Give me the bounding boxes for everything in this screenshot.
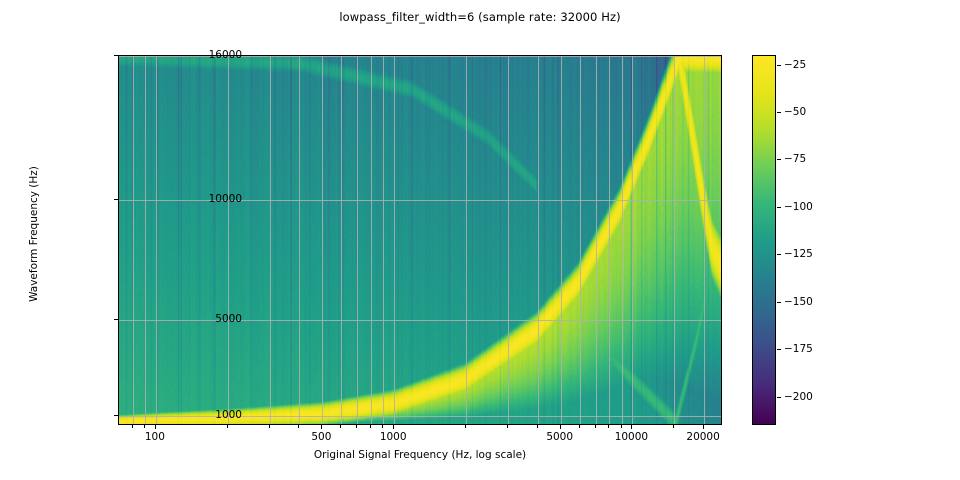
x-tick-minor — [537, 425, 538, 428]
x-tick-minor — [298, 425, 299, 428]
x-tick-minor — [269, 425, 270, 428]
figure-canvas: lowpass_filter_width=6 (sample rate: 320… — [0, 0, 960, 480]
x-tick-major — [155, 425, 156, 429]
spectrogram-image — [119, 56, 721, 424]
x-tick-minor — [382, 425, 383, 428]
x-tick-minor — [673, 425, 674, 428]
x-tick-label: 20000 — [686, 431, 719, 443]
y-tick-major — [114, 319, 118, 320]
x-tick-label: 1000 — [380, 431, 407, 443]
colorbar-tick-label: −150 — [784, 296, 813, 308]
x-tick-minor — [465, 425, 466, 428]
x-tick-major — [321, 425, 322, 429]
y-axis-label: Waveform Frequency (Hz) — [28, 104, 40, 364]
colorbar — [752, 55, 776, 425]
x-tick-label: 500 — [311, 431, 331, 443]
x-tick-major — [560, 425, 561, 429]
y-tick-label: 5000 — [215, 313, 242, 325]
x-tick-minor — [370, 425, 371, 428]
colorbar-tick — [777, 65, 781, 66]
x-axis-label: Original Signal Frequency (Hz, log scale… — [118, 449, 722, 461]
x-tick-label: 100 — [145, 431, 165, 443]
figure-title: lowpass_filter_width=6 (sample rate: 320… — [0, 10, 960, 24]
x-tick-label: 10000 — [615, 431, 648, 443]
x-tick-minor — [132, 425, 133, 428]
colorbar-tick — [777, 112, 781, 113]
y-tick-label: 1000 — [215, 409, 242, 421]
x-tick-minor — [227, 425, 228, 428]
x-tick-minor — [595, 425, 596, 428]
colorbar-tick — [777, 397, 781, 398]
colorbar-tick-label: −175 — [784, 343, 813, 355]
x-tick-label: 5000 — [546, 431, 573, 443]
y-tick-label: 16000 — [209, 49, 242, 61]
colorbar-tick-label: −200 — [784, 391, 813, 403]
colorbar-tick — [777, 159, 781, 160]
colorbar-tick — [777, 207, 781, 208]
colorbar-tick-label: −50 — [784, 106, 806, 118]
x-tick-minor — [356, 425, 357, 428]
colorbar-tick-label: −25 — [784, 59, 806, 71]
x-tick-minor — [579, 425, 580, 428]
colorbar-tick-label: −75 — [784, 153, 806, 165]
y-tick-label: 10000 — [209, 193, 242, 205]
colorbar-tick-label: −100 — [784, 201, 813, 213]
x-tick-minor — [507, 425, 508, 428]
colorbar-gradient — [753, 56, 775, 424]
spectrogram-axes — [118, 55, 722, 425]
colorbar-tick — [777, 302, 781, 303]
x-tick-minor — [608, 425, 609, 428]
x-tick-minor — [340, 425, 341, 428]
x-tick-minor — [621, 425, 622, 428]
y-tick-major — [114, 415, 118, 416]
y-tick-major — [114, 55, 118, 56]
colorbar-tick-label: −125 — [784, 248, 813, 260]
x-tick-major — [631, 425, 632, 429]
x-tick-major — [393, 425, 394, 429]
x-tick-major — [703, 425, 704, 429]
y-tick-major — [114, 199, 118, 200]
x-tick-minor — [144, 425, 145, 428]
colorbar-tick — [777, 349, 781, 350]
colorbar-tick — [777, 254, 781, 255]
